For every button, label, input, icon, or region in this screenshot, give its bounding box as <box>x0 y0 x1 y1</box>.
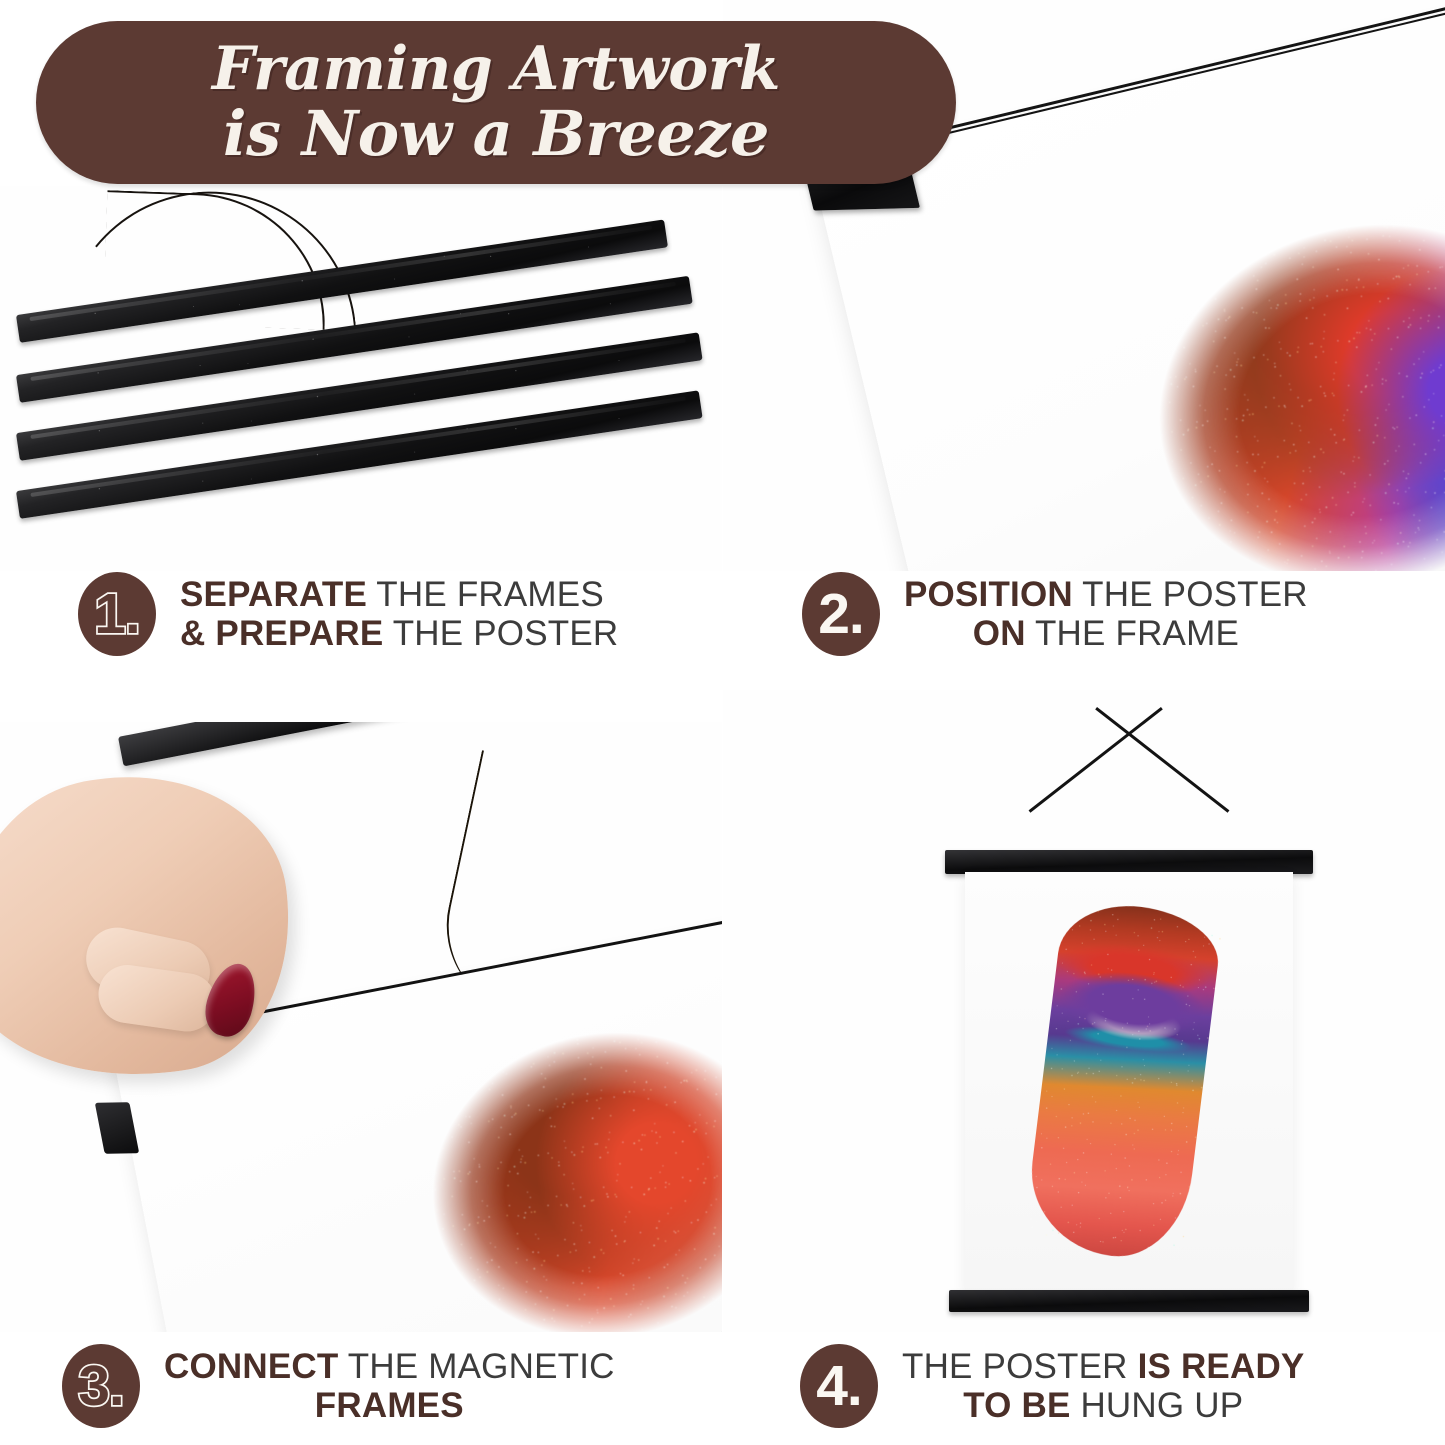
caption-line: THE POSTER IS READY <box>902 1347 1304 1386</box>
caption-text: THE POSTER <box>902 1347 1138 1386</box>
hanging-cord-right <box>1095 707 1229 813</box>
caption-line: & PREPARE THE POSTER <box>180 614 618 653</box>
step-2-caption: 2. POSITION THE POSTERON THE FRAME <box>802 572 1308 656</box>
step-1-photo <box>0 186 722 571</box>
caption-line: ON THE FRAME <box>904 614 1308 653</box>
caption-emphasis: ON <box>973 614 1026 653</box>
caption-emphasis: CONNECT <box>164 1347 338 1386</box>
title-line-1: Framing Artwork <box>212 37 780 101</box>
caption-line: SEPARATE THE FRAMES <box>180 575 618 614</box>
caption-text: THE FRAMES <box>367 575 604 614</box>
photo-finished-hanging-poster <box>723 690 1445 1332</box>
caption-emphasis: FRAMES <box>315 1386 464 1425</box>
caption-text: THE POSTER <box>1073 575 1308 614</box>
sparkle-overlay <box>1022 898 1223 1265</box>
step-caption-text: SEPARATE THE FRAMES& PREPARE THE POSTER <box>180 575 618 653</box>
magnetic-frame-bar <box>118 722 722 766</box>
caption-text: HUNG UP <box>1071 1386 1244 1425</box>
step-3-photo <box>0 722 722 1332</box>
step-caption-text: THE POSTER IS READYTO BE HUNG UP <box>902 1347 1304 1425</box>
photo-frames-separated <box>0 186 722 571</box>
step-number-badge: 2. <box>802 572 880 656</box>
caption-text: THE MAGNETIC <box>338 1347 614 1386</box>
step-4-photo <box>723 690 1445 1332</box>
caption-emphasis: IS READY <box>1138 1347 1305 1386</box>
face-artwork <box>1022 898 1223 1265</box>
caption-text: THE FRAME <box>1026 614 1239 653</box>
title-line-2: is Now a Breeze <box>223 101 769 167</box>
caption-text: THE POSTER <box>383 614 618 653</box>
caption-line: TO BE HUNG UP <box>902 1386 1304 1425</box>
caption-line: POSITION THE POSTER <box>904 575 1308 614</box>
infographic-root: Framing Artwork is Now a Breeze 1. SEPAR… <box>0 0 1445 1445</box>
caption-emphasis: TO BE <box>963 1386 1070 1425</box>
caption-emphasis: POSITION <box>904 575 1073 614</box>
frame-bar-top <box>945 850 1313 874</box>
caption-emphasis: & PREPARE <box>180 614 383 653</box>
step-caption-text: POSITION THE POSTERON THE FRAME <box>904 575 1308 653</box>
caption-emphasis: SEPARATE <box>180 575 367 614</box>
title-banner: Framing Artwork is Now a Breeze <box>36 21 956 184</box>
step-1-caption: 1. SEPARATE THE FRAMES& PREPARE THE POST… <box>78 572 618 656</box>
step-3-caption: 3. CONNECT THE MAGNETICFRAMES <box>62 1344 615 1428</box>
step-4-caption: 4. THE POSTER IS READYTO BE HUNG UP <box>800 1344 1304 1428</box>
caption-line: CONNECT THE MAGNETIC <box>164 1347 615 1386</box>
step-number-badge: 4. <box>800 1344 878 1428</box>
poster-sheet <box>965 872 1293 1292</box>
step-number-badge: 3. <box>62 1344 140 1428</box>
step-caption-text: CONNECT THE MAGNETICFRAMES <box>164 1347 615 1425</box>
hanging-cord-left <box>1029 707 1163 813</box>
caption-line: FRAMES <box>164 1386 615 1425</box>
hanging-poster <box>945 708 1313 1318</box>
frame-bar-bottom <box>949 1290 1309 1312</box>
photo-hand-connecting-frame <box>0 722 722 1332</box>
step-number-badge: 1. <box>78 572 156 656</box>
